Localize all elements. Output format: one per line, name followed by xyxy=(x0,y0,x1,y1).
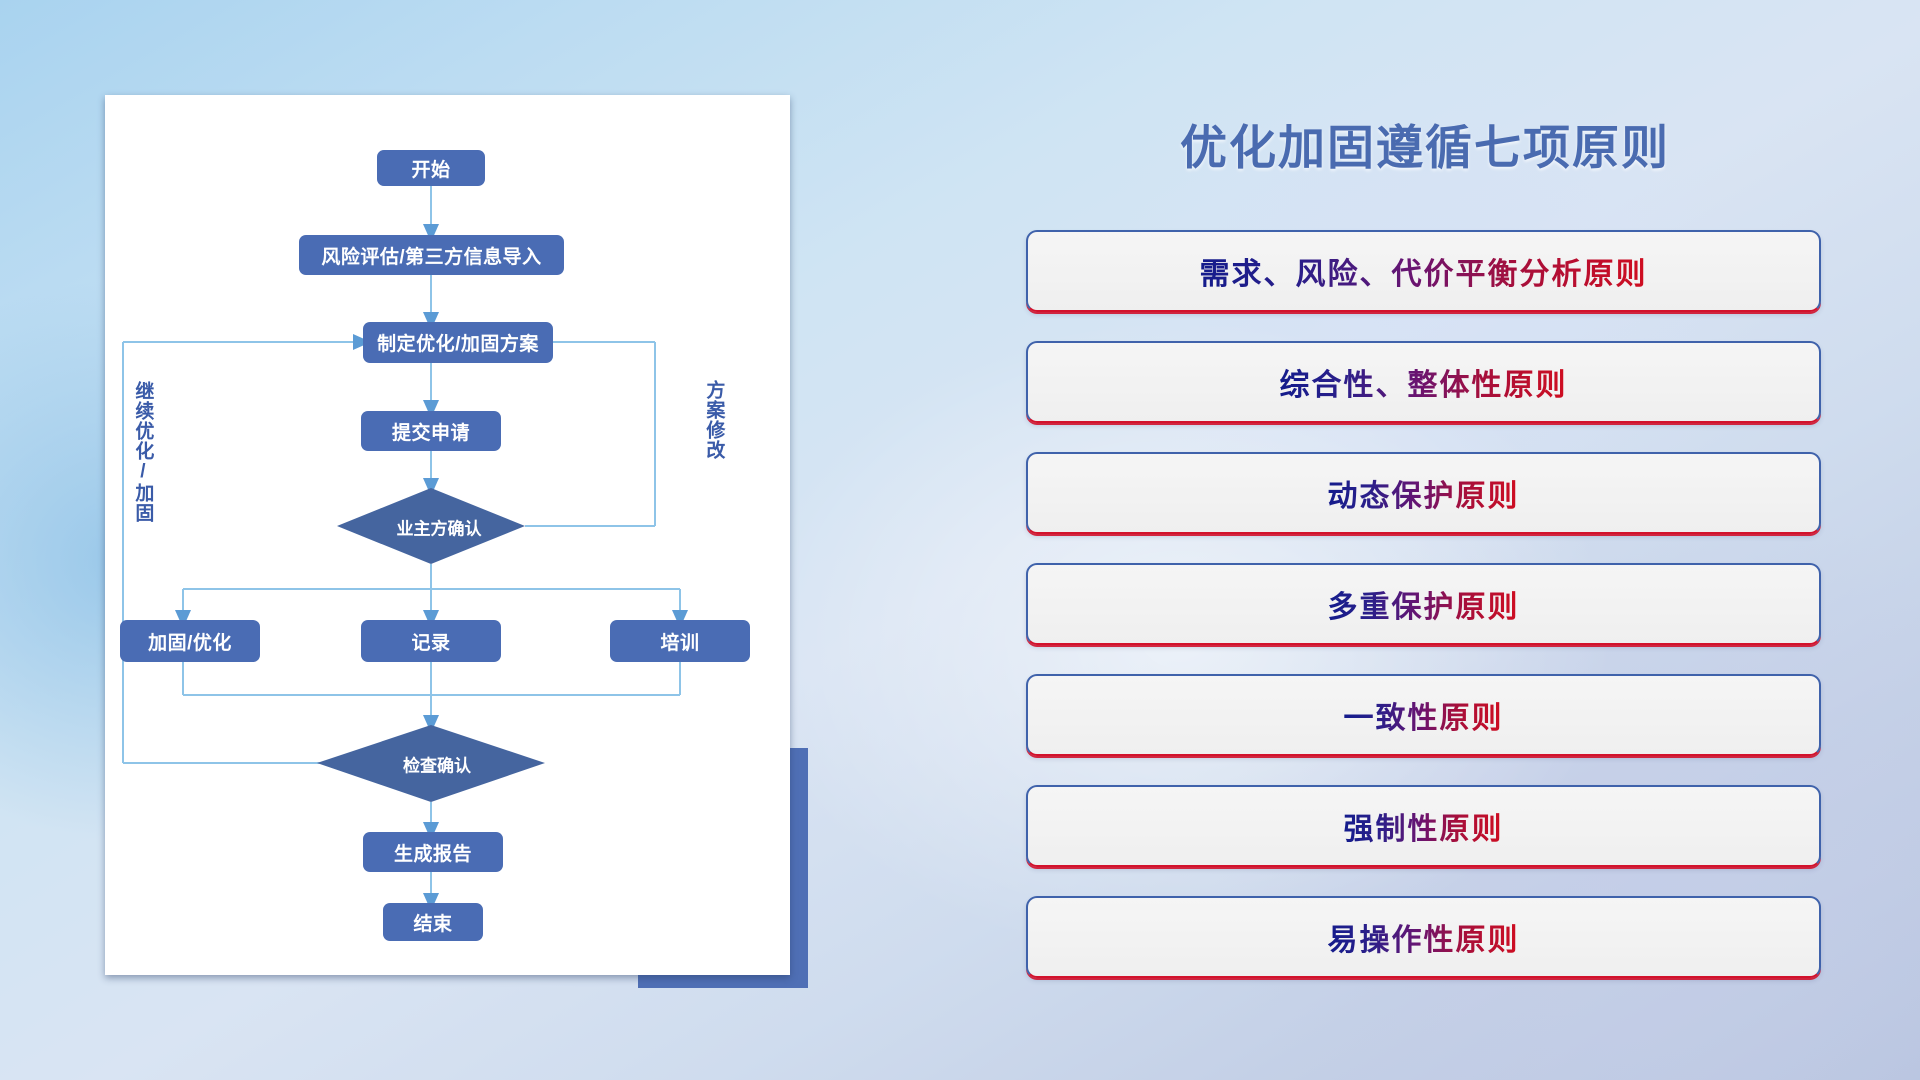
flow-node-record[interactable]: 记录 xyxy=(361,620,501,662)
flow-node-risk-assessment[interactable]: 风险评估/第三方信息导入 xyxy=(299,235,564,275)
flow-edge-label-plan-revision: 方案修改 xyxy=(704,380,723,510)
flow-node-submit-application[interactable]: 提交申请 xyxy=(361,411,501,451)
principle-card-label: 多重保护原则 xyxy=(1328,582,1520,626)
flow-node-training[interactable]: 培训 xyxy=(610,620,750,662)
principle-card-2[interactable]: 综合性、整体性原则 xyxy=(1026,341,1821,423)
flow-edge-label-continue-optimize: 继续优化/加固 xyxy=(133,381,152,571)
principles-title: 优化加固遵循七项原则 xyxy=(1020,109,1830,178)
principle-card-1[interactable]: 需求、风险、代价平衡分析原则 xyxy=(1026,230,1821,312)
principle-card-7[interactable]: 易操作性原则 xyxy=(1026,896,1821,978)
flow-node-check-confirm-label: 检查确认 xyxy=(403,752,471,777)
flow-node-owner-confirm-label: 业主方确认 xyxy=(397,515,482,540)
principles-panel: 优化加固遵循七项原则 需求、风险、代价平衡分析原则 综合性、整体性原则 动态保护… xyxy=(1020,95,1830,995)
principle-card-label: 一致性原则 xyxy=(1344,693,1504,737)
principle-card-6[interactable]: 强制性原则 xyxy=(1026,785,1821,867)
principle-card-4[interactable]: 多重保护原则 xyxy=(1026,563,1821,645)
flow-node-reinforce-optimize[interactable]: 加固/优化 xyxy=(120,620,260,662)
principle-card-label: 综合性、整体性原则 xyxy=(1280,360,1568,404)
principles-card-list: 需求、风险、代价平衡分析原则 综合性、整体性原则 动态保护原则 多重保护原则 一… xyxy=(1026,230,1821,1007)
flowchart-card: 开始 风险评估/第三方信息导入 制定优化/加固方案 提交申请 加固/优化 记录 … xyxy=(105,95,790,975)
flow-node-make-plan[interactable]: 制定优化/加固方案 xyxy=(363,322,553,363)
principle-card-label: 强制性原则 xyxy=(1344,804,1504,848)
flow-node-start[interactable]: 开始 xyxy=(377,150,485,186)
principle-card-3[interactable]: 动态保护原则 xyxy=(1026,452,1821,534)
principle-card-label: 动态保护原则 xyxy=(1328,471,1520,515)
principle-card-label: 易操作性原则 xyxy=(1328,915,1520,959)
principle-card-label: 需求、风险、代价平衡分析原则 xyxy=(1200,249,1648,293)
flow-node-generate-report[interactable]: 生成报告 xyxy=(363,832,503,872)
flow-node-end[interactable]: 结束 xyxy=(383,903,483,941)
principle-card-5[interactable]: 一致性原则 xyxy=(1026,674,1821,756)
